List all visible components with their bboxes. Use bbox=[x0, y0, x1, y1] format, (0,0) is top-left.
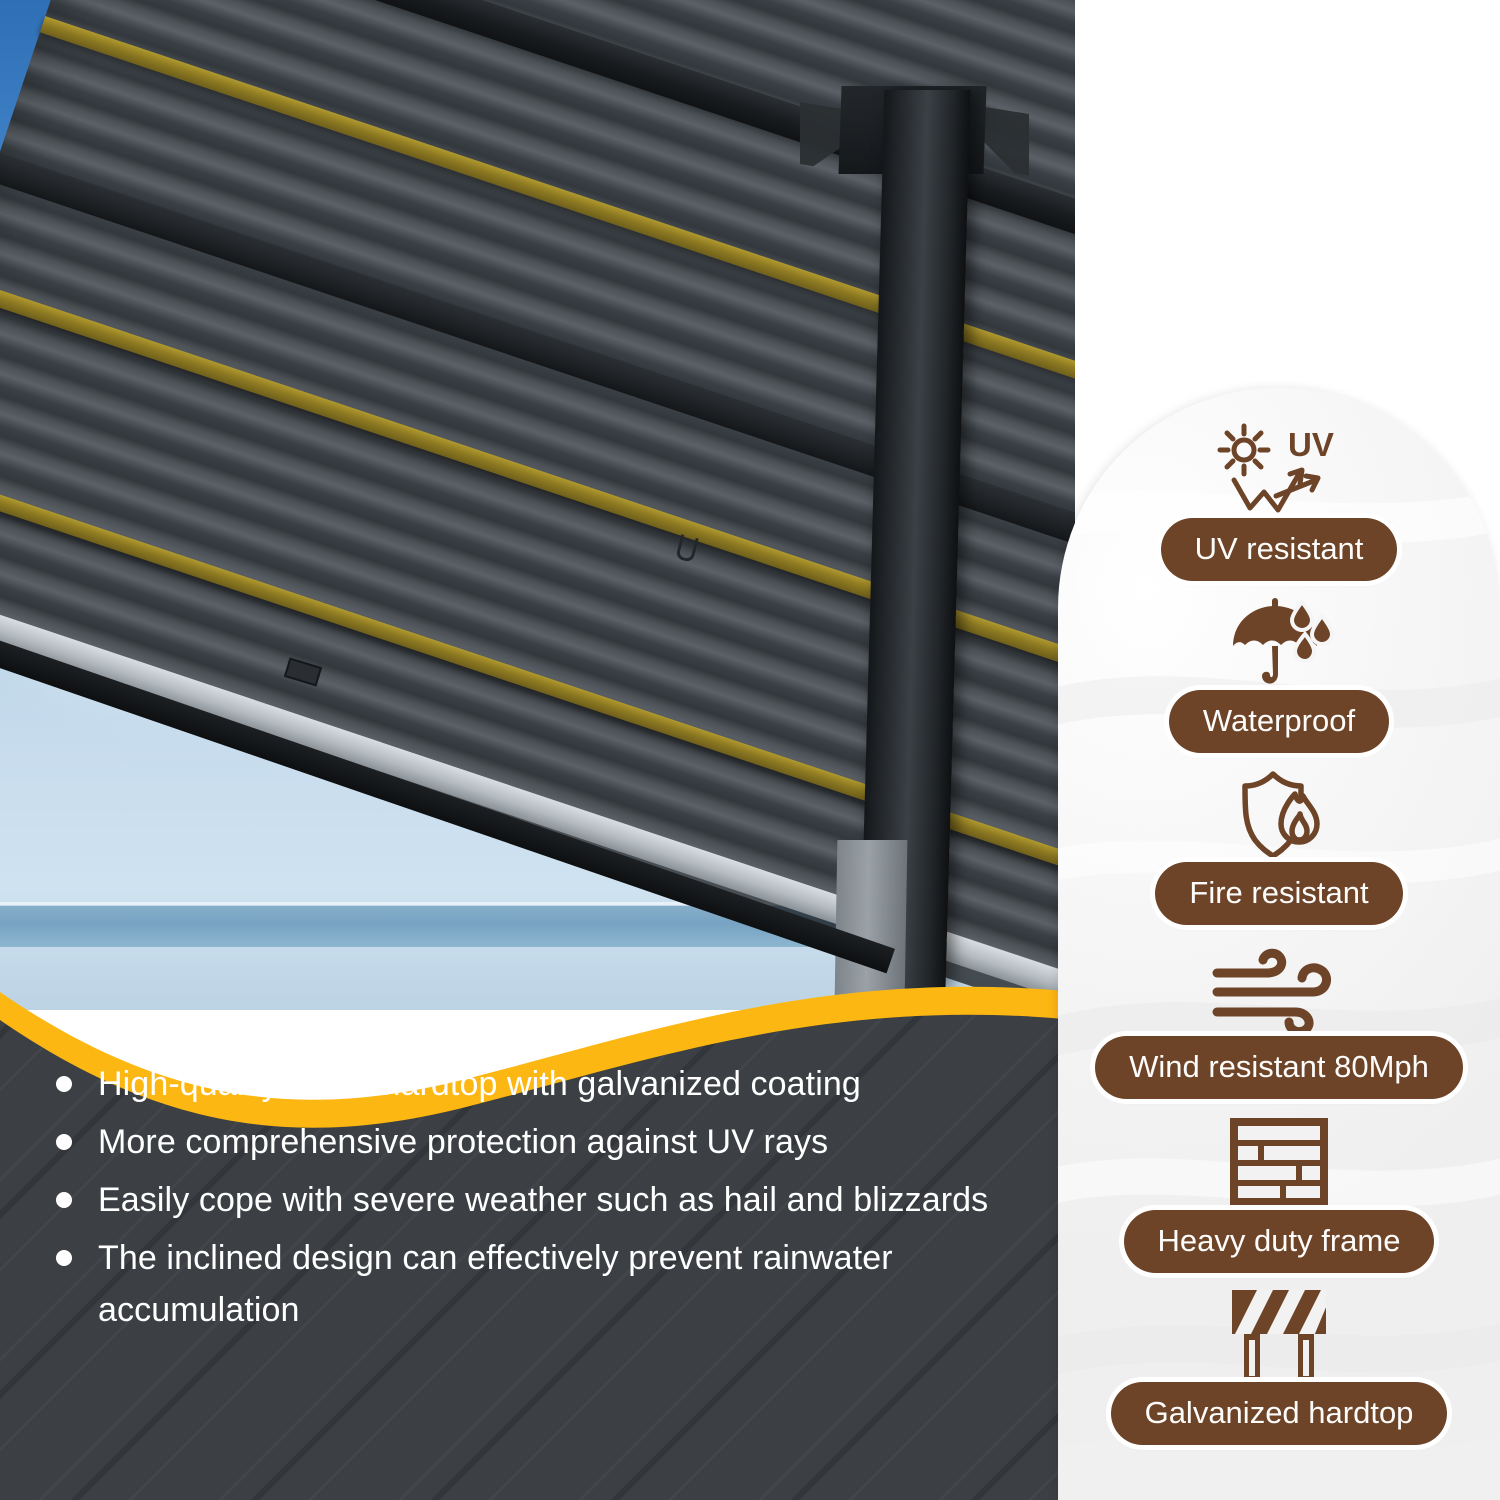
feature-badge-panel: UV UV resistant bbox=[1058, 388, 1500, 1500]
list-item: Easily cope with severe weather such as … bbox=[56, 1174, 1046, 1226]
bullet-dot-icon bbox=[56, 1076, 72, 1092]
feature-galvanized-hardtop: Galvanized hardtop bbox=[1058, 1286, 1500, 1445]
badge-heavy-duty-frame[interactable]: Heavy duty frame bbox=[1124, 1210, 1435, 1273]
feature-uv-resistant: UV UV resistant bbox=[1058, 422, 1500, 581]
bullet-dot-icon bbox=[56, 1192, 72, 1208]
uv-sun-rays-icon: UV bbox=[1204, 422, 1354, 518]
shield-flame-icon bbox=[1219, 766, 1339, 862]
bullet-text: Easily cope with severe weather such as … bbox=[98, 1174, 988, 1226]
brick-wall-frame-icon bbox=[1224, 1114, 1334, 1210]
wind-gust-icon bbox=[1209, 940, 1349, 1036]
list-item: High-quality metal hardtop with galvaniz… bbox=[56, 1058, 1046, 1110]
bullet-dot-icon bbox=[56, 1250, 72, 1266]
feature-wind-resistant: Wind resistant 80Mph bbox=[1058, 940, 1500, 1099]
umbrella-raindrops-icon bbox=[1219, 594, 1339, 690]
striped-barricade-icon bbox=[1224, 1286, 1334, 1382]
bullet-dot-icon bbox=[56, 1134, 72, 1150]
uv-label: UV bbox=[1288, 426, 1334, 463]
badge-wind-resistant[interactable]: Wind resistant 80Mph bbox=[1095, 1036, 1463, 1099]
infographic-stage: High-quality metal hardtop with galvaniz… bbox=[0, 0, 1500, 1500]
badge-uv-resistant[interactable]: UV resistant bbox=[1161, 518, 1398, 581]
badge-galvanized-hardtop[interactable]: Galvanized hardtop bbox=[1111, 1382, 1448, 1445]
bullet-text: The inclined design can effectively prev… bbox=[98, 1232, 1046, 1336]
feature-heavy-duty-frame: Heavy duty frame bbox=[1058, 1114, 1500, 1273]
product-photo bbox=[0, 0, 1075, 1010]
feature-bullet-list: High-quality metal hardtop with galvaniz… bbox=[56, 1058, 1046, 1342]
list-item: More comprehensive protection against UV… bbox=[56, 1116, 1046, 1168]
badge-waterproof[interactable]: Waterproof bbox=[1169, 690, 1389, 753]
feature-waterproof: Waterproof bbox=[1058, 594, 1500, 753]
feature-fire-resistant: Fire resistant bbox=[1058, 766, 1500, 925]
list-item: The inclined design can effectively prev… bbox=[56, 1232, 1046, 1336]
bullet-text: More comprehensive protection against UV… bbox=[98, 1116, 828, 1168]
bullet-text: High-quality metal hardtop with galvaniz… bbox=[98, 1058, 861, 1110]
badge-fire-resistant[interactable]: Fire resistant bbox=[1155, 862, 1402, 925]
